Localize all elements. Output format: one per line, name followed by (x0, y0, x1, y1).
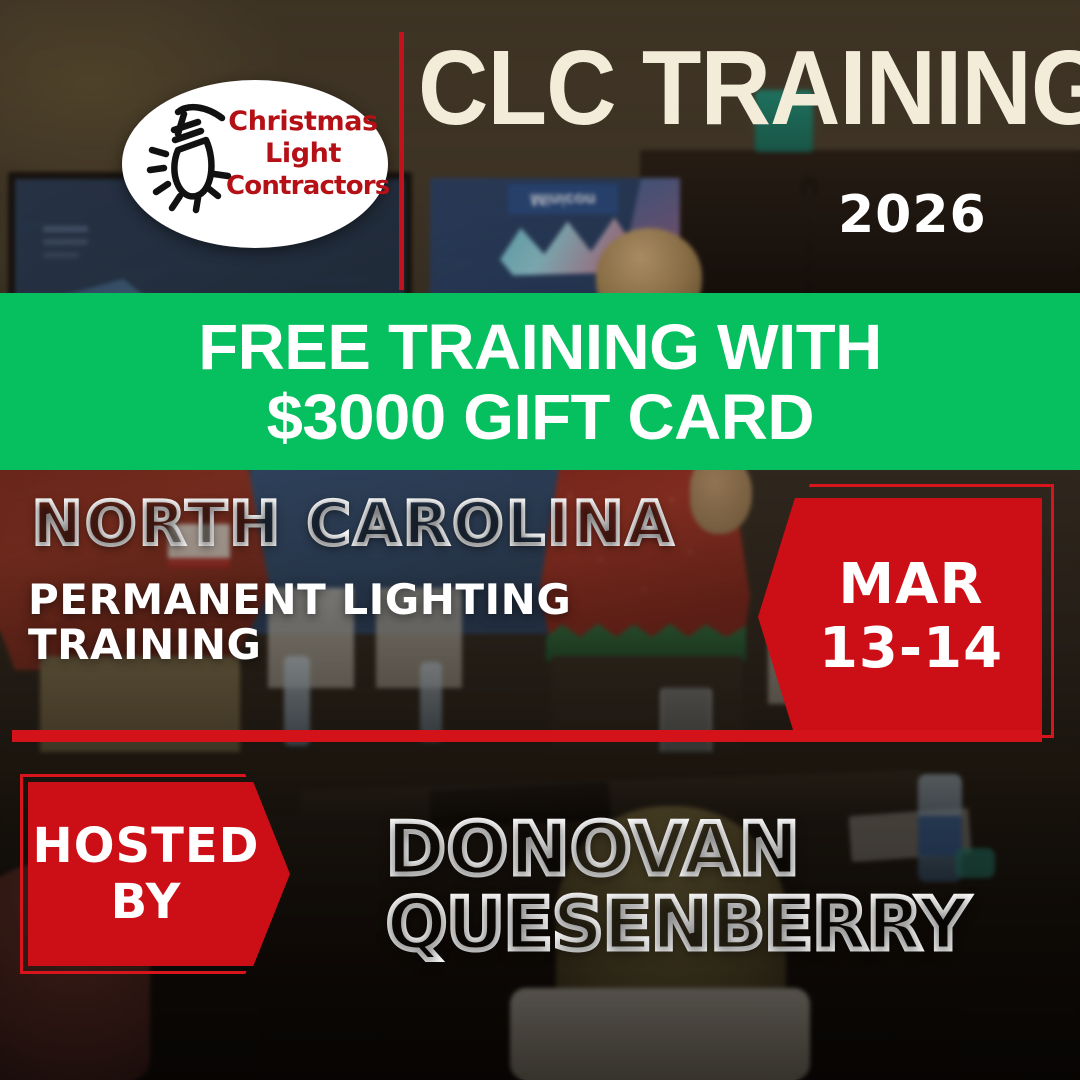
hosted-by-line-1: HOSTED (33, 822, 260, 870)
promo-line-2: $3000 GIFT CARD (266, 385, 813, 449)
date-month: MAR (838, 557, 983, 613)
logo-line-2: Light (226, 138, 380, 170)
header-vertical-divider (399, 32, 404, 290)
event-year: 2026 (838, 185, 987, 245)
christmas-light-bulb-icon (144, 96, 236, 228)
logo-line-3: Contractors (226, 171, 380, 202)
event-subtitle: PERMANENT LIGHTING TRAINING (28, 578, 588, 667)
logo-line-1: Christmas (226, 106, 380, 138)
promo-banner: FREE TRAINING WITH $3000 GIFT CARD (0, 293, 1080, 470)
event-subtitle-line-2: TRAINING (28, 623, 588, 668)
page-title: CLC TRAINING (418, 38, 970, 140)
logo-wordmark: Christmas Light Contractors (226, 106, 380, 202)
presenter-last-name: QUESENBERRY (386, 887, 1080, 962)
section-horizontal-divider (12, 730, 1042, 742)
presenter-first-name: DONOVAN (386, 812, 1080, 887)
hosted-by-line-2: BY (111, 878, 182, 926)
event-location: NORTH CAROLINA (32, 489, 676, 559)
presenter-name: DONOVAN QUESENBERRY (386, 812, 1080, 962)
event-subtitle-line-1: PERMANENT LIGHTING (28, 578, 588, 623)
date-days: 13-14 (819, 621, 1003, 677)
company-logo: Christmas Light Contractors (122, 80, 388, 248)
promo-line-1: FREE TRAINING WITH (198, 315, 881, 379)
hosted-by-badge: HOSTED BY (28, 782, 290, 966)
training-flyer: Exercise 1 Minicon (0, 0, 1080, 1080)
date-badge: MAR 13-14 (758, 498, 1042, 736)
